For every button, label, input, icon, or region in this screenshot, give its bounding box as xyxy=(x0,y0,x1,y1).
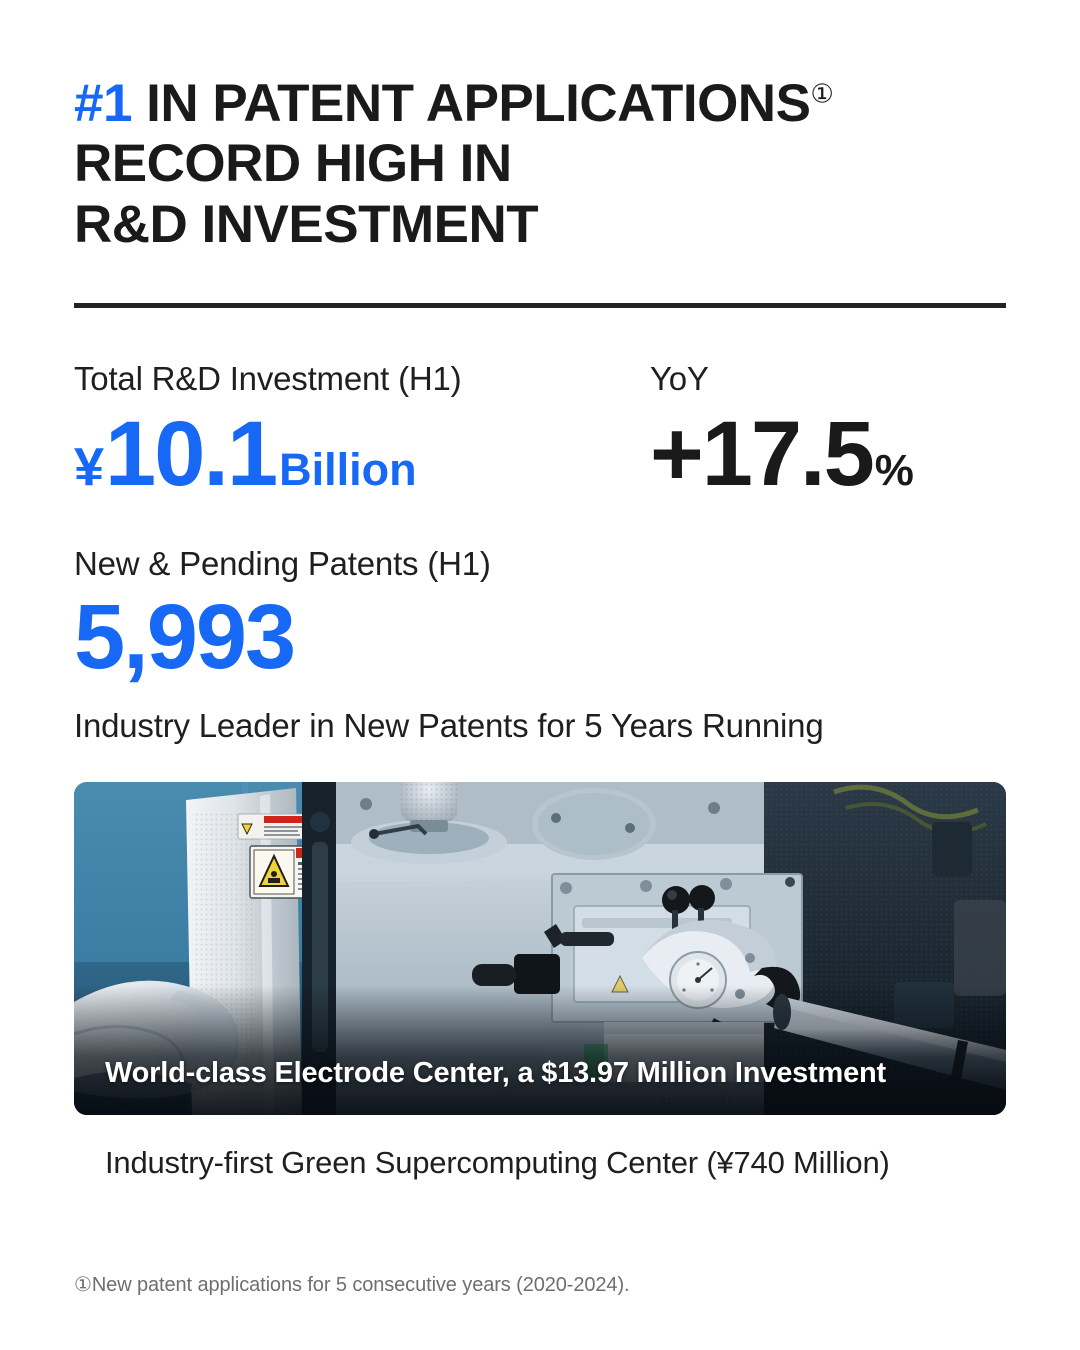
headline-accent: #1 xyxy=(74,74,132,133)
stat-yoy-number: +17.5 xyxy=(650,408,873,500)
stat-yoy-label: YoY xyxy=(650,360,914,398)
svg-text:X2: X2 xyxy=(660,1097,672,1107)
supercomputing-center-note: Industry-first Green Supercomputing Cent… xyxy=(105,1145,890,1181)
svg-text:X1: X1 xyxy=(720,1095,732,1105)
stat-yoy-value: +17.5 % xyxy=(650,408,914,500)
header-divider xyxy=(74,303,1006,308)
stat-investment-number: 10.1 xyxy=(105,408,276,500)
page-title: #1 IN PATENT APPLICATIONS① RECORD HIGH I… xyxy=(74,74,1014,255)
stat-investment-unit: Billion xyxy=(279,447,416,492)
warning-label-top xyxy=(238,814,306,839)
stat-patents-label: New & Pending Patents (H1) xyxy=(74,545,1014,583)
headline-line-1-rest: IN PATENT APPLICATIONS xyxy=(132,74,810,133)
stat-patents-number: 5,993 xyxy=(74,589,1014,686)
stat-patents-subtitle: Industry Leader in New Patents for 5 Yea… xyxy=(74,707,823,745)
stat-patents: New & Pending Patents (H1) 5,993 xyxy=(74,545,1014,686)
headline-line-3: R&D INVESTMENT xyxy=(74,195,1014,255)
stat-yoy-unit: % xyxy=(875,449,914,493)
stat-investment-label: Total R&D Investment (H1) xyxy=(74,360,461,398)
stat-investment: Total R&D Investment (H1) ¥ 10.1 Billion xyxy=(74,360,461,500)
stat-investment-value: ¥ 10.1 Billion xyxy=(74,408,461,500)
currency-symbol: ¥ xyxy=(74,440,104,494)
photo-caption: World-class Electrode Center, a $13.97 M… xyxy=(105,1057,886,1090)
stat-yoy: YoY +17.5 % xyxy=(650,360,914,500)
electrode-center-photo: X2 X1 World-class Electrode Center, a $1… xyxy=(74,782,1006,1115)
footnote-marker-icon: ① xyxy=(810,78,833,108)
headline-line-2: RECORD HIGH IN xyxy=(74,134,1014,194)
infographic-page: #1 IN PATENT APPLICATIONS① RECORD HIGH I… xyxy=(0,0,1080,1350)
headline-line-1: #1 IN PATENT APPLICATIONS① xyxy=(74,74,1014,134)
footnote-text: ①New patent applications for 5 consecuti… xyxy=(74,1272,629,1297)
